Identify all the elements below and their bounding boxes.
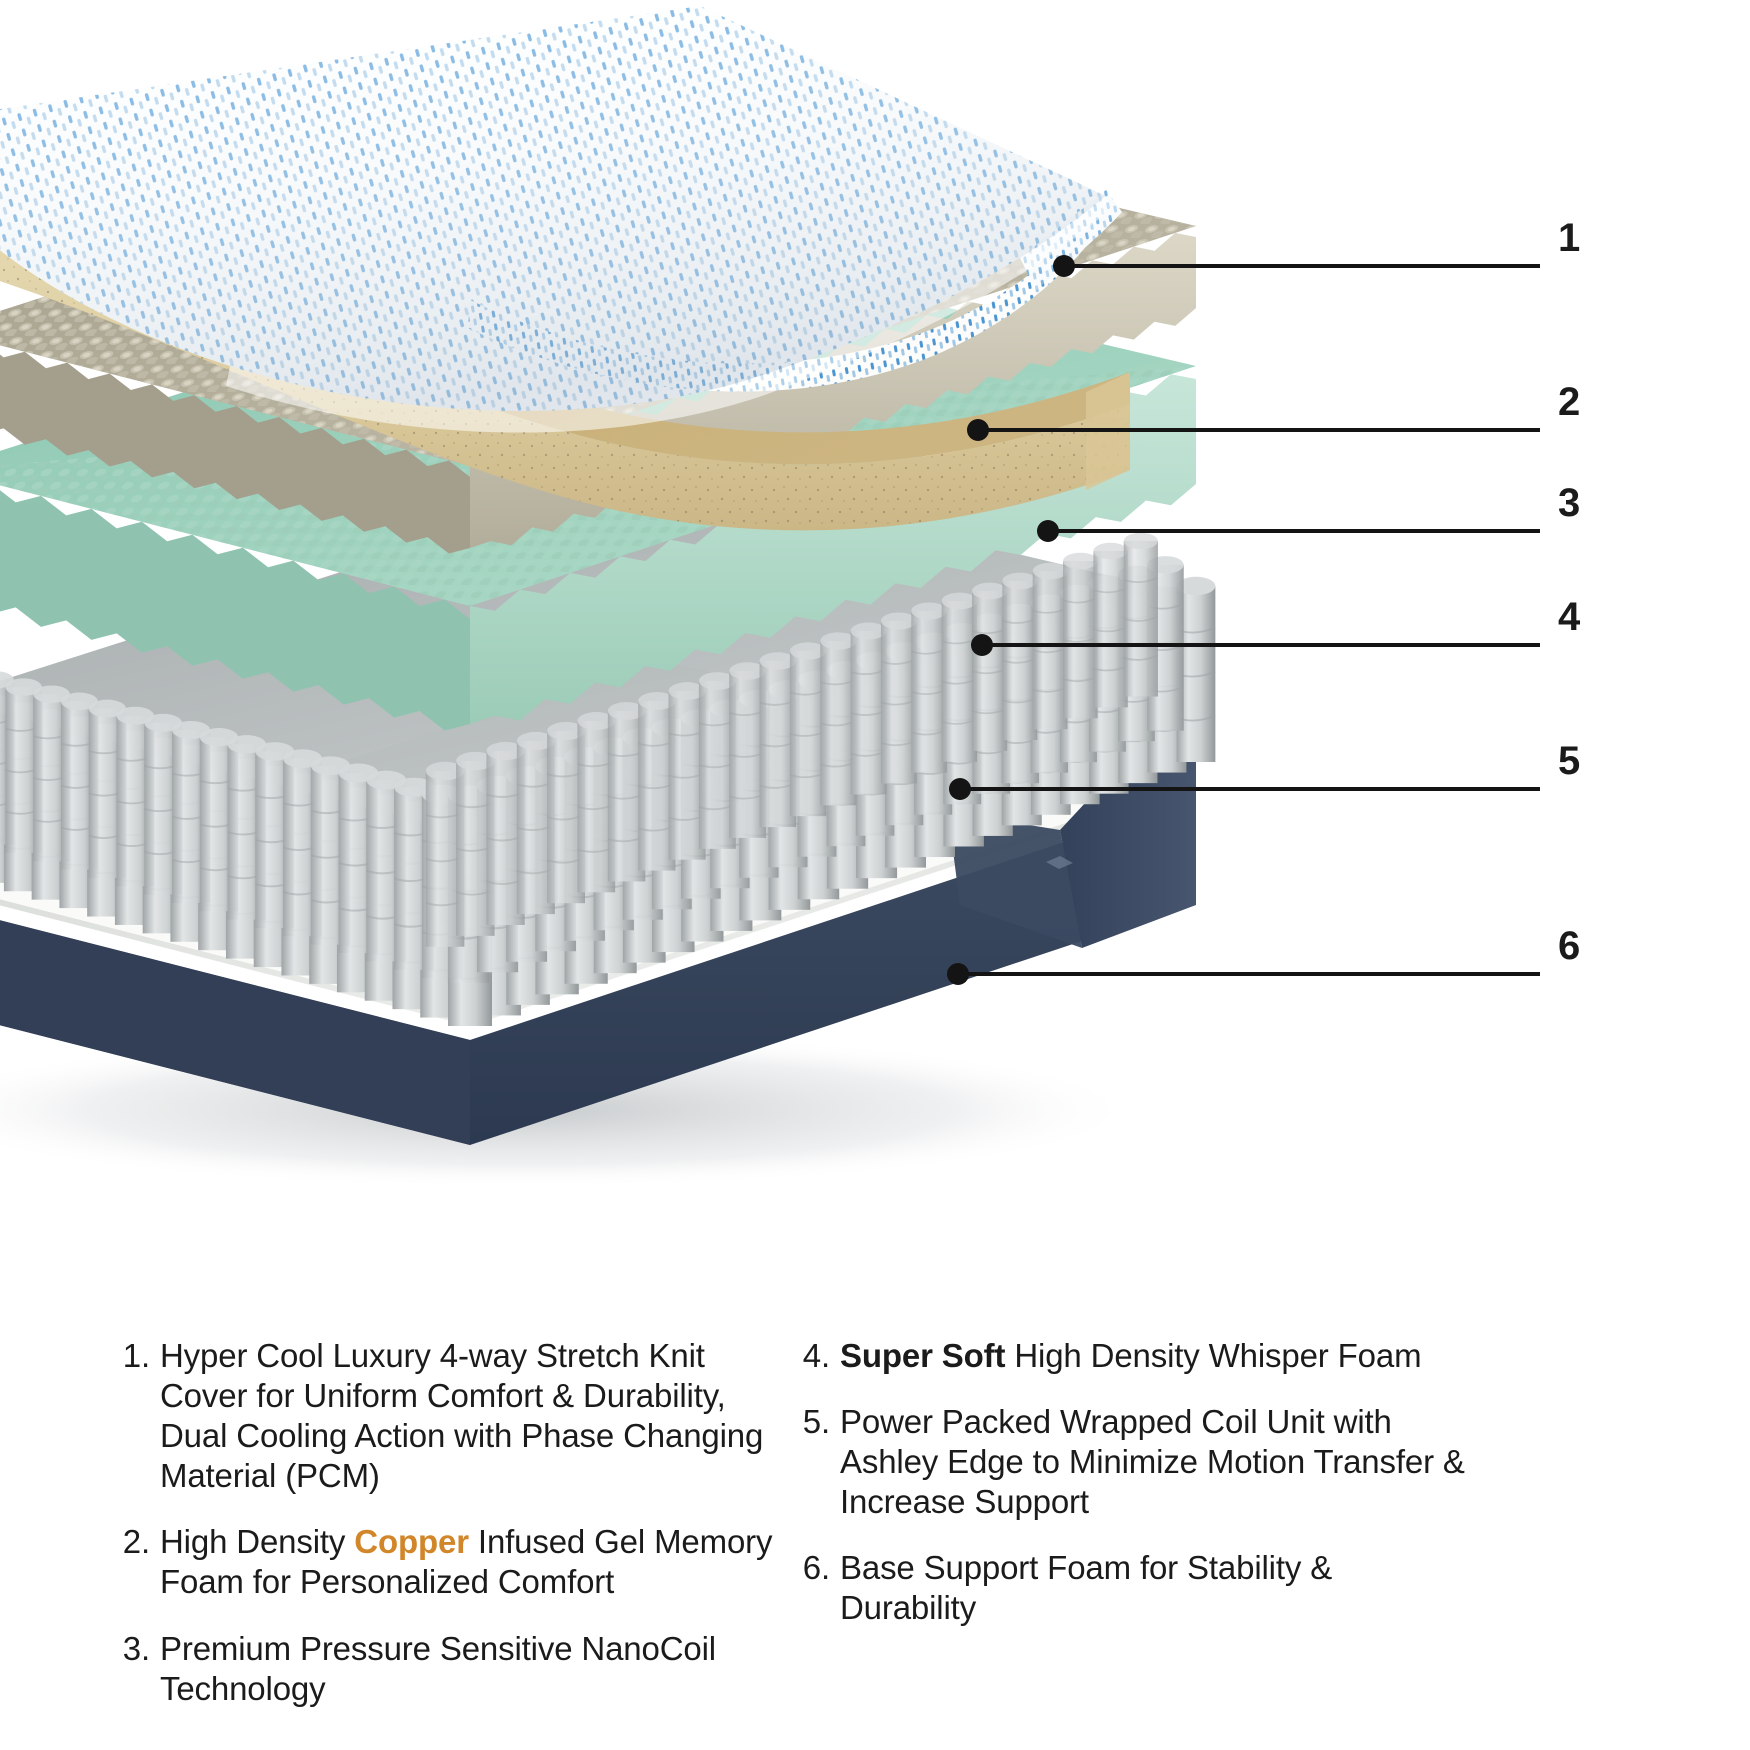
legend-item-text: Premium Pressure Sensitive NanoCoil Tech…: [160, 1629, 788, 1709]
legend-text-segment: Premium Pressure Sensitive NanoCoil Tech…: [160, 1630, 716, 1707]
callout-number-2: 2: [1558, 382, 1580, 422]
legend-item-number: 2.: [118, 1522, 160, 1602]
legend-text-segment: High Density Whisper Foam: [1005, 1337, 1421, 1374]
legend-text-segment: Base Support Foam for Stability & Durabi…: [840, 1549, 1332, 1626]
legend-column-right: 4.Super Soft High Density Whisper Foam5.…: [798, 1336, 1468, 1750]
mattress-layers-infographic: 1 2 3 4 5 6 1.Hyper Cool Luxury 4-way St…: [0, 0, 1750, 1750]
legend-item-number: 6.: [798, 1548, 840, 1628]
mattress-illustration: 1 2 3 4 5 6: [0, 0, 1750, 1190]
callout-number-4: 4: [1558, 597, 1580, 637]
legend-item-text: Hyper Cool Luxury 4-way Stretch Knit Cov…: [160, 1336, 788, 1496]
leader-line-3: [1037, 520, 1540, 542]
legend-item-number: 4.: [798, 1336, 840, 1376]
legend-item-text: Base Support Foam for Stability & Durabi…: [840, 1548, 1468, 1628]
legend-item: 4.Super Soft High Density Whisper Foam: [798, 1336, 1468, 1376]
legend-item: 5.Power Packed Wrapped Coil Unit with As…: [798, 1402, 1468, 1522]
mattress-exploded-view: [0, 0, 1750, 1190]
legend-text-segment: High Density: [160, 1523, 354, 1560]
leader-line-6: [947, 963, 1540, 985]
legend-item: 2.High Density Copper Infused Gel Memory…: [118, 1522, 788, 1602]
legend-text-segment: Hyper Cool Luxury 4-way Stretch Knit Cov…: [160, 1337, 763, 1494]
legend-item: 6.Base Support Foam for Stability & Dura…: [798, 1548, 1468, 1628]
legend-item-number: 1.: [118, 1336, 160, 1496]
legend-item-text: Super Soft High Density Whisper Foam: [840, 1336, 1468, 1376]
bold-highlight: Super Soft: [840, 1337, 1005, 1374]
callout-number-1: 1: [1558, 218, 1580, 258]
legend-column-left: 1.Hyper Cool Luxury 4-way Stretch Knit C…: [118, 1336, 788, 1750]
callout-number-6: 6: [1558, 926, 1580, 966]
legend-item-number: 3.: [118, 1629, 160, 1709]
legend-text-segment: Power Packed Wrapped Coil Unit with Ashl…: [840, 1403, 1465, 1520]
legend-item: 1.Hyper Cool Luxury 4-way Stretch Knit C…: [118, 1336, 788, 1496]
callout-number-5: 5: [1558, 741, 1580, 781]
copper-highlight: Copper: [354, 1523, 469, 1560]
callout-number-3: 3: [1558, 483, 1580, 523]
legend-item-text: High Density Copper Infused Gel Memory F…: [160, 1522, 788, 1602]
legend-item-number: 5.: [798, 1402, 840, 1522]
legend: 1.Hyper Cool Luxury 4-way Stretch Knit C…: [0, 1190, 1750, 1750]
legend-item: 3.Premium Pressure Sensitive NanoCoil Te…: [118, 1629, 788, 1709]
legend-item-text: Power Packed Wrapped Coil Unit with Ashl…: [840, 1402, 1468, 1522]
